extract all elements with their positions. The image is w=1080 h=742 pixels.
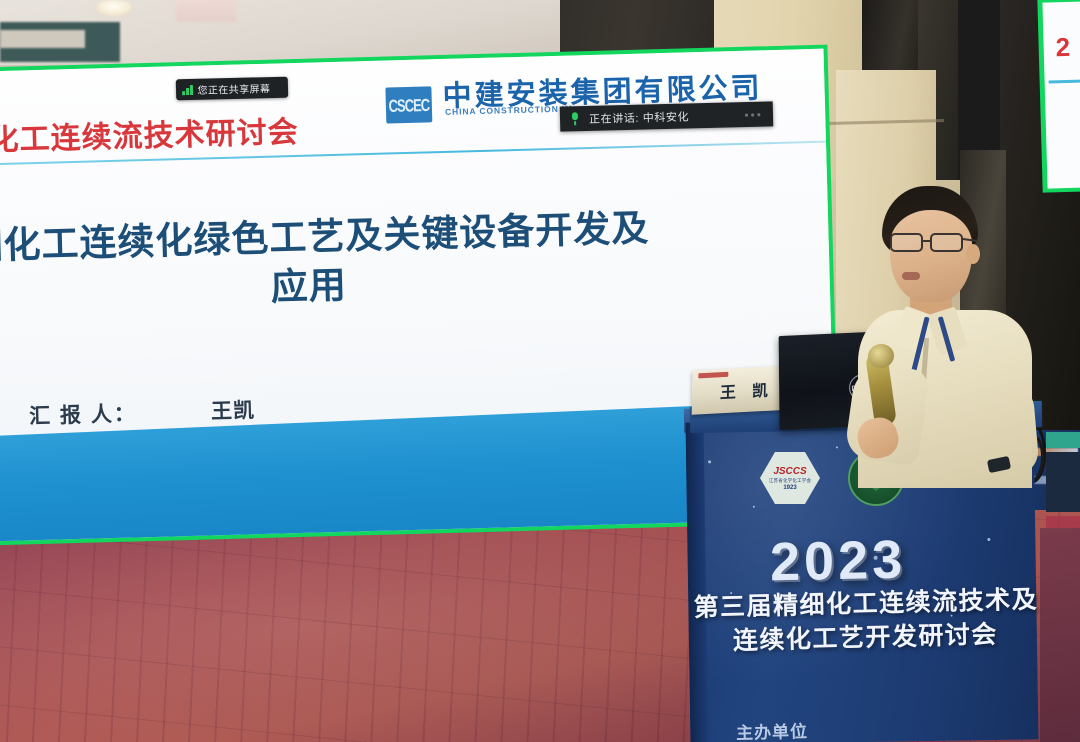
cscec-logo-text: CSCEC xyxy=(388,94,429,115)
ceiling-panel xyxy=(176,0,236,22)
podium-side-panel xyxy=(685,422,708,742)
meta-value: 王凯 xyxy=(211,394,256,425)
glasses-lens-right xyxy=(930,233,963,252)
cscec-logo-icon: CSCEC xyxy=(385,86,432,123)
background-wood-right xyxy=(1040,528,1080,742)
microphone-icon xyxy=(570,112,579,125)
presenter-mouth xyxy=(902,272,920,280)
active-speaker-label: 正在讲话: 中科安化 xyxy=(589,108,689,126)
glasses-icon xyxy=(888,233,974,253)
company-name-en: CHINA CONSTRUCTION IN xyxy=(445,103,572,116)
secondary-screen-rule xyxy=(1049,79,1080,83)
secondary-screen-partial-text: 2 xyxy=(1055,32,1070,63)
signal-bars-icon xyxy=(182,84,193,94)
glasses-bridge xyxy=(923,240,931,242)
name-card-char-2: 凯 xyxy=(752,377,768,402)
presenter xyxy=(838,186,1034,486)
society-logo-sub: 江苏省化学化工学会 xyxy=(769,478,811,484)
meta-label: 汇 报 人： xyxy=(29,397,162,431)
name-card-accent xyxy=(698,372,728,379)
slide-main-title: 细化工连续化绿色工艺及关键设备开发及应用 xyxy=(0,203,654,320)
active-speaker-bar[interactable]: 正在讲话: 中科安化 ••• xyxy=(560,101,774,131)
background-blue-panel xyxy=(1046,452,1080,512)
overflow-menu-icon[interactable]: ••• xyxy=(744,107,763,121)
banner-title-block: 第三届精细化工连续流技术及 连续化工艺开发研讨会 xyxy=(693,584,1025,659)
society-logo-mark: JSCCS xyxy=(773,466,806,477)
ceiling-recess-inner xyxy=(0,30,85,48)
society-logo-year: 1923 xyxy=(783,485,796,491)
glasses-lens-left xyxy=(890,233,923,252)
banner-year: 2023 xyxy=(769,529,906,594)
background-teal-panel xyxy=(1046,432,1080,448)
banner-organizer-label: 主办单位 xyxy=(736,717,809,742)
slide-header-title: 细化工连续流技术研讨会 xyxy=(0,107,299,160)
share-screen-indicator[interactable]: 您正在共享屏幕 xyxy=(176,77,288,101)
name-card-char-1: 王 xyxy=(720,378,736,403)
screenshot-root: 2 细化工连续流技术研讨会 CSCEC 中建安装集团有限公司 CHINA CON… xyxy=(0,0,1080,742)
presenter-face xyxy=(890,210,972,302)
secondary-screen: 2 xyxy=(1042,1,1080,188)
share-screen-label: 您正在共享屏幕 xyxy=(197,80,270,97)
ceiling-light-icon xyxy=(95,0,133,16)
